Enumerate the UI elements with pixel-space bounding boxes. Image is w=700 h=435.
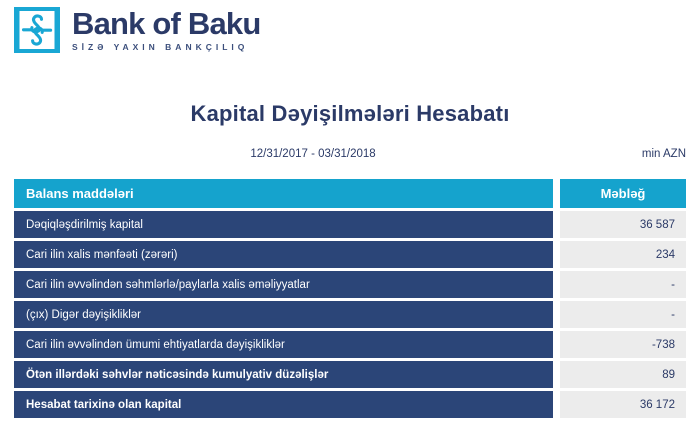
- table-row: Dəqiqləşdirilmiş kapital36 587: [14, 211, 686, 238]
- row-label: Dəqiqləşdirilmiş kapital: [14, 211, 553, 238]
- page-title: Kapital Dəyişilmələri Hesabatı: [0, 101, 700, 127]
- row-amount: -738: [560, 331, 686, 358]
- brand-wordmark: Bank of Baku SİZƏ YAXIN BANKÇILIQ: [72, 7, 261, 53]
- report-subheader: 12/31/2017 - 03/31/2018 min AZN: [14, 148, 686, 166]
- report-period: 12/31/2017 - 03/31/2018: [0, 148, 649, 160]
- row-amount: 36 587: [560, 211, 686, 238]
- table-row: Ötən illərdəki səhvlər nəticəsində kumul…: [14, 361, 686, 388]
- brand-header: Bank of Baku SİZƏ YAXIN BANKÇILIQ: [14, 7, 261, 53]
- row-label: Hesabat tarixinə olan kapital: [14, 391, 553, 418]
- row-label: Ötən illərdəki səhvlər nəticəsində kumul…: [14, 361, 553, 388]
- row-amount: 89: [560, 361, 686, 388]
- row-amount: 36 172: [560, 391, 686, 418]
- row-amount: -: [560, 271, 686, 298]
- table-row: Cari ilin əvvəlindən səhmlərlə/paylarla …: [14, 271, 686, 298]
- row-label: Cari ilin xalis mənfəəti (zərəri): [14, 241, 553, 268]
- report-units: min AZN: [642, 148, 686, 160]
- table-row: Hesabat tarixinə olan kapital36 172: [14, 391, 686, 418]
- row-label: Cari ilin əvvəlindən ümumi ehtiyatlarda …: [14, 331, 553, 358]
- table-header-row: Balans maddələri Məbləğ: [14, 179, 686, 208]
- bank-of-baku-knot-logo-icon: [14, 7, 60, 53]
- brand-name: Bank of Baku: [72, 8, 261, 40]
- table-row: Cari ilin xalis mənfəəti (zərəri)234: [14, 241, 686, 268]
- table-row: (çıx) Digər dəyişikliklər-: [14, 301, 686, 328]
- table-row: Cari ilin əvvəlindən ümumi ehtiyatlarda …: [14, 331, 686, 358]
- row-label: Cari ilin əvvəlindən səhmlərlə/paylarla …: [14, 271, 553, 298]
- column-header-amount: Məbləğ: [560, 179, 686, 208]
- statement-table: Balans maddələri Məbləğ Dəqiqləşdirilmiş…: [14, 179, 686, 421]
- row-label: (çıx) Digər dəyişikliklər: [14, 301, 553, 328]
- brand-tagline: SİZƏ YAXIN BANKÇILIQ: [72, 41, 261, 53]
- row-amount: -: [560, 301, 686, 328]
- column-header-balance-items: Balans maddələri: [14, 179, 553, 208]
- row-amount: 234: [560, 241, 686, 268]
